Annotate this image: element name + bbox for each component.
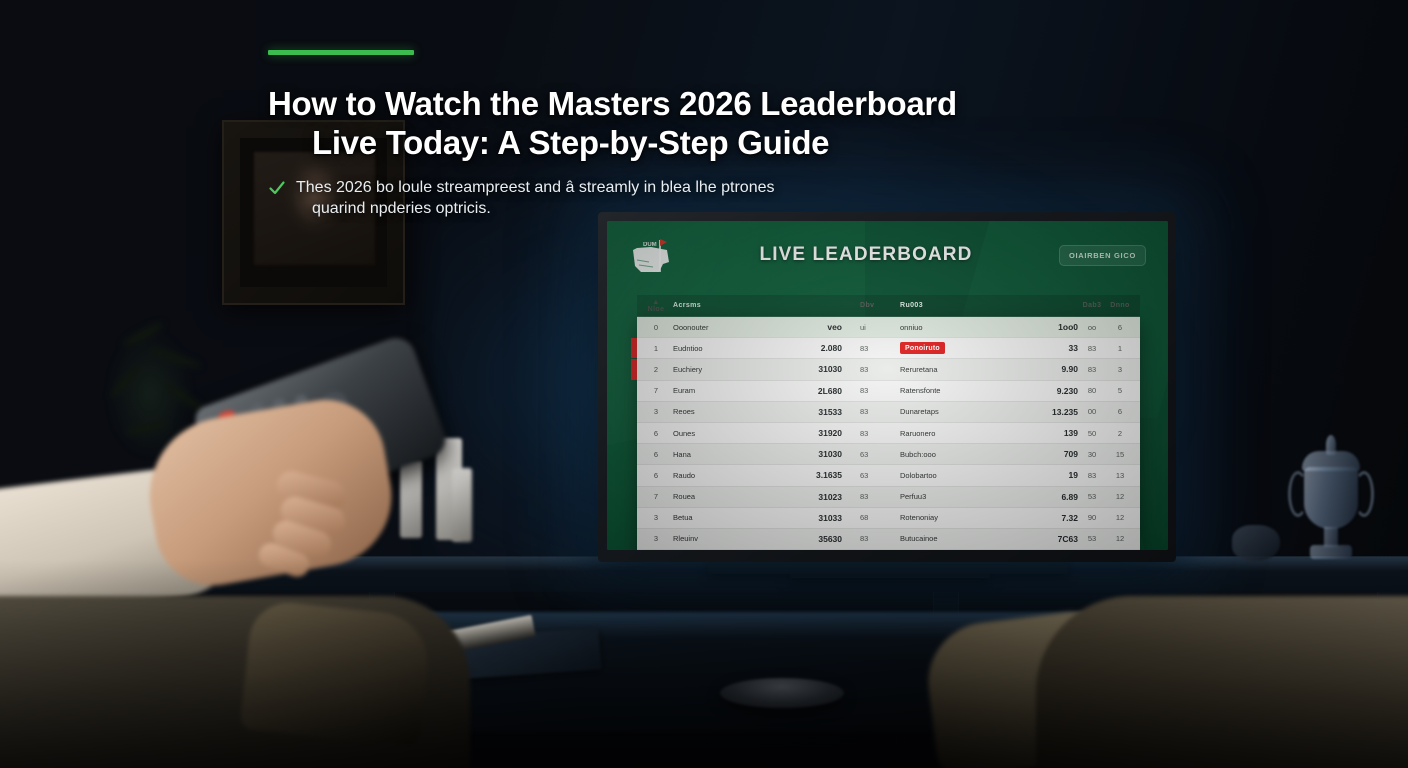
cell-round-2: 5 xyxy=(1106,386,1134,395)
cell-value: 9.90 xyxy=(1022,364,1078,374)
cell-score: 35630 xyxy=(757,534,852,544)
leaderboard-header-row: ▲ Nloe Acrsms Dbv Ru003 Dab3 Dnno xyxy=(637,295,1140,317)
cell-thru: 83 xyxy=(852,386,892,395)
cell-event: onniuo xyxy=(892,323,1022,332)
table-row[interactable]: 0Ooonouterveouionniuo1oo0oo6 xyxy=(637,317,1140,338)
cell-thru: 83 xyxy=(852,365,892,374)
cell-name: Rouea xyxy=(669,492,757,501)
headline-line-2: Live Today: A Step-by-Step Guide xyxy=(268,124,1068,163)
row-marker xyxy=(631,359,637,379)
cell-position: 0 xyxy=(643,323,669,332)
cell-thru: 68 xyxy=(852,513,892,522)
column-header-event[interactable]: Ru003 xyxy=(892,302,1022,309)
cell-event: Rotenoniay xyxy=(892,513,1022,522)
cell-name: Betua xyxy=(669,513,757,522)
trophy-stem xyxy=(1324,527,1338,547)
table-row[interactable]: 1Eudntioo2.08083Ponoiruto33831 xyxy=(637,338,1140,359)
television[interactable]: DUM LIVE LEADERBOARD OIAIRBEN GICO ▲ Nlo… xyxy=(598,212,1176,562)
cell-position: 6 xyxy=(643,450,669,459)
table-row[interactable]: 7Rouea3102383Perfuu36.895312 xyxy=(637,487,1140,508)
cell-position: 2 xyxy=(643,365,669,374)
cell-thru: ui xyxy=(852,323,892,332)
cell-score: 31920 xyxy=(757,428,852,438)
table-row[interactable]: 6Ounes3192083Raruonero139502 xyxy=(637,423,1140,444)
table-row[interactable]: 3Betua3103368Rotenoniay7.329012 xyxy=(637,508,1140,529)
leaderboard-rows: 0Ooonouterveouionniuo1oo0oo61Eudntioo2.0… xyxy=(637,317,1140,550)
table-row[interactable]: 7Euram2L68083Ratensfonte9.230805 xyxy=(637,381,1140,402)
cell-value: 9.230 xyxy=(1022,386,1078,396)
cell-round-2: 13 xyxy=(1106,471,1134,480)
cell-event: Raruonero xyxy=(892,429,1022,438)
cell-position: 3 xyxy=(643,534,669,543)
check-icon xyxy=(268,179,286,197)
table-row[interactable]: 3Reoes3153383Dunaretaps13.235006 xyxy=(637,402,1140,423)
cell-event: Butucainoe xyxy=(892,534,1022,543)
cell-name: Reoes xyxy=(669,407,757,416)
cell-round-1: 53 xyxy=(1078,534,1106,543)
cell-round-1: 83 xyxy=(1078,365,1106,374)
cell-round-1: 90 xyxy=(1078,513,1106,522)
trophy-cup xyxy=(1304,467,1358,529)
table-row[interactable]: 6Raudo3.163563Dolobartoo198313 xyxy=(637,465,1140,486)
column-header-r2[interactable]: Dnno xyxy=(1106,302,1134,309)
cell-value: 19 xyxy=(1022,470,1078,480)
cell-round-1: 30 xyxy=(1078,450,1106,459)
cell-event: Ponoiruto xyxy=(892,342,1022,354)
trophy-base xyxy=(1310,545,1352,559)
cell-thru: 83 xyxy=(852,534,892,543)
cell-name: Eudntioo xyxy=(669,344,757,353)
table-row[interactable]: 6Hana3103063Bubch:ooo7093015 xyxy=(637,444,1140,465)
console-panel-center xyxy=(394,591,934,643)
leaderboard[interactable]: ▲ Nloe Acrsms Dbv Ru003 Dab3 Dnno 0Ooono… xyxy=(637,295,1140,550)
cell-position: 7 xyxy=(643,386,669,395)
cell-round-2: 15 xyxy=(1106,450,1134,459)
row-marker xyxy=(631,338,637,358)
cell-round-2: 6 xyxy=(1106,323,1134,332)
decorative-bowl xyxy=(720,678,844,708)
cell-value: 139 xyxy=(1022,428,1078,438)
accent-bar xyxy=(268,50,414,55)
cell-value: 33 xyxy=(1022,343,1078,353)
cell-name: Ooonouter xyxy=(669,323,757,332)
cell-round-1: 53 xyxy=(1078,492,1106,501)
column-header-pos[interactable]: ▲ Nloe xyxy=(643,299,669,313)
subtitle-text: Thes 2026 bo loule streampreest and â st… xyxy=(296,177,775,220)
cell-name: Raudo xyxy=(669,471,757,480)
cell-round-1: 80 xyxy=(1078,386,1106,395)
svg-text:DUM: DUM xyxy=(643,242,657,248)
cell-event: Ratensfonte xyxy=(892,386,1022,395)
cell-round-1: 83 xyxy=(1078,344,1106,353)
cell-round-1: 83 xyxy=(1078,471,1106,480)
cell-position: 6 xyxy=(643,471,669,480)
subtitle-line-1: Thes 2026 bo loule streampreest and â st… xyxy=(296,179,775,196)
broadcast-header: DUM LIVE LEADERBOARD OIAIRBEN GICO xyxy=(607,221,1168,289)
broadcast-badge[interactable]: OIAIRBEN GICO xyxy=(1059,245,1146,266)
broadcast-title: LIVE LEADERBOARD xyxy=(673,244,1059,266)
cell-thru: 83 xyxy=(852,407,892,416)
cell-score: 31030 xyxy=(757,449,852,459)
cell-value: 7.32 xyxy=(1022,513,1078,523)
column-header-r1[interactable]: Dab3 xyxy=(1078,302,1106,309)
cell-event: Dunaretaps xyxy=(892,407,1022,416)
status-badge: Ponoiruto xyxy=(900,342,945,354)
cell-thru: 63 xyxy=(852,471,892,480)
headline-line-1: How to Watch the Masters 2026 Leaderboar… xyxy=(268,85,957,122)
table-row[interactable]: 3Rleuinv3563083Butucainoe7C635312 xyxy=(637,529,1140,550)
column-header-thru[interactable]: Dbv xyxy=(852,302,892,309)
cell-score: 2.080 xyxy=(757,343,852,353)
cell-thru: 63 xyxy=(852,450,892,459)
cell-round-2: 3 xyxy=(1106,365,1134,374)
cell-value: 709 xyxy=(1022,449,1078,459)
trophy xyxy=(1286,425,1376,570)
cell-event: Bubch:ooo xyxy=(892,450,1022,459)
cell-score: 31033 xyxy=(757,513,852,523)
page-title: How to Watch the Masters 2026 Leaderboar… xyxy=(268,85,1068,163)
cell-score: 31023 xyxy=(757,492,852,502)
cell-round-1: 00 xyxy=(1078,407,1106,416)
cell-thru: 83 xyxy=(852,429,892,438)
console-panel-right xyxy=(958,591,1378,643)
living-room-scene: DUM LIVE LEADERBOARD OIAIRBEN GICO ▲ Nlo… xyxy=(0,0,1408,768)
subtitle-line-2: quarind npderies optricis. xyxy=(296,198,775,219)
cell-round-2: 12 xyxy=(1106,534,1134,543)
cell-score: 31030 xyxy=(757,364,852,374)
cell-score: veo xyxy=(757,322,852,332)
cell-event: Dolobartoo xyxy=(892,471,1022,480)
cell-round-1: oo xyxy=(1078,323,1106,332)
cell-thru: 83 xyxy=(852,344,892,353)
cell-position: 7 xyxy=(643,492,669,501)
cell-round-2: 2 xyxy=(1106,429,1134,438)
table-row[interactable]: 2Euchiery3103083Reruretana9.90833 xyxy=(637,359,1140,380)
cell-score: 31533 xyxy=(757,407,852,417)
column-header-name[interactable]: Acrsms xyxy=(669,302,757,309)
cell-round-2: 12 xyxy=(1106,492,1134,501)
cell-name: Euram xyxy=(669,386,757,395)
trophy-companion-object xyxy=(1232,525,1280,561)
cell-position: 1 xyxy=(643,344,669,353)
cell-name: Ounes xyxy=(669,429,757,438)
cell-value: 7C63 xyxy=(1022,534,1078,544)
cell-score: 2L680 xyxy=(757,386,852,396)
cell-thru: 83 xyxy=(852,492,892,501)
cell-position: 3 xyxy=(643,513,669,522)
text-overlay: How to Watch the Masters 2026 Leaderboar… xyxy=(268,50,1068,220)
masters-logo-icon: DUM xyxy=(629,234,673,276)
hand-holding-remote xyxy=(0,350,460,650)
cell-name: Rleuinv xyxy=(669,534,757,543)
cell-name: Hana xyxy=(669,450,757,459)
cell-round-1: 50 xyxy=(1078,429,1106,438)
subtitle-block: Thes 2026 bo loule streampreest and â st… xyxy=(268,177,1068,220)
cell-value: 6.89 xyxy=(1022,492,1078,502)
cell-value: 13.235 xyxy=(1022,407,1078,417)
cell-name: Euchiery xyxy=(669,365,757,374)
tv-screen[interactable]: DUM LIVE LEADERBOARD OIAIRBEN GICO ▲ Nlo… xyxy=(607,221,1168,550)
cell-value: 1oo0 xyxy=(1022,322,1078,332)
cell-round-2: 6 xyxy=(1106,407,1134,416)
cell-event: Reruretana xyxy=(892,365,1022,374)
cell-round-2: 1 xyxy=(1106,344,1134,353)
cell-position: 6 xyxy=(643,429,669,438)
cell-score: 3.1635 xyxy=(757,470,852,480)
cell-round-2: 12 xyxy=(1106,513,1134,522)
cell-event: Perfuu3 xyxy=(892,492,1022,501)
cell-position: 3 xyxy=(643,407,669,416)
